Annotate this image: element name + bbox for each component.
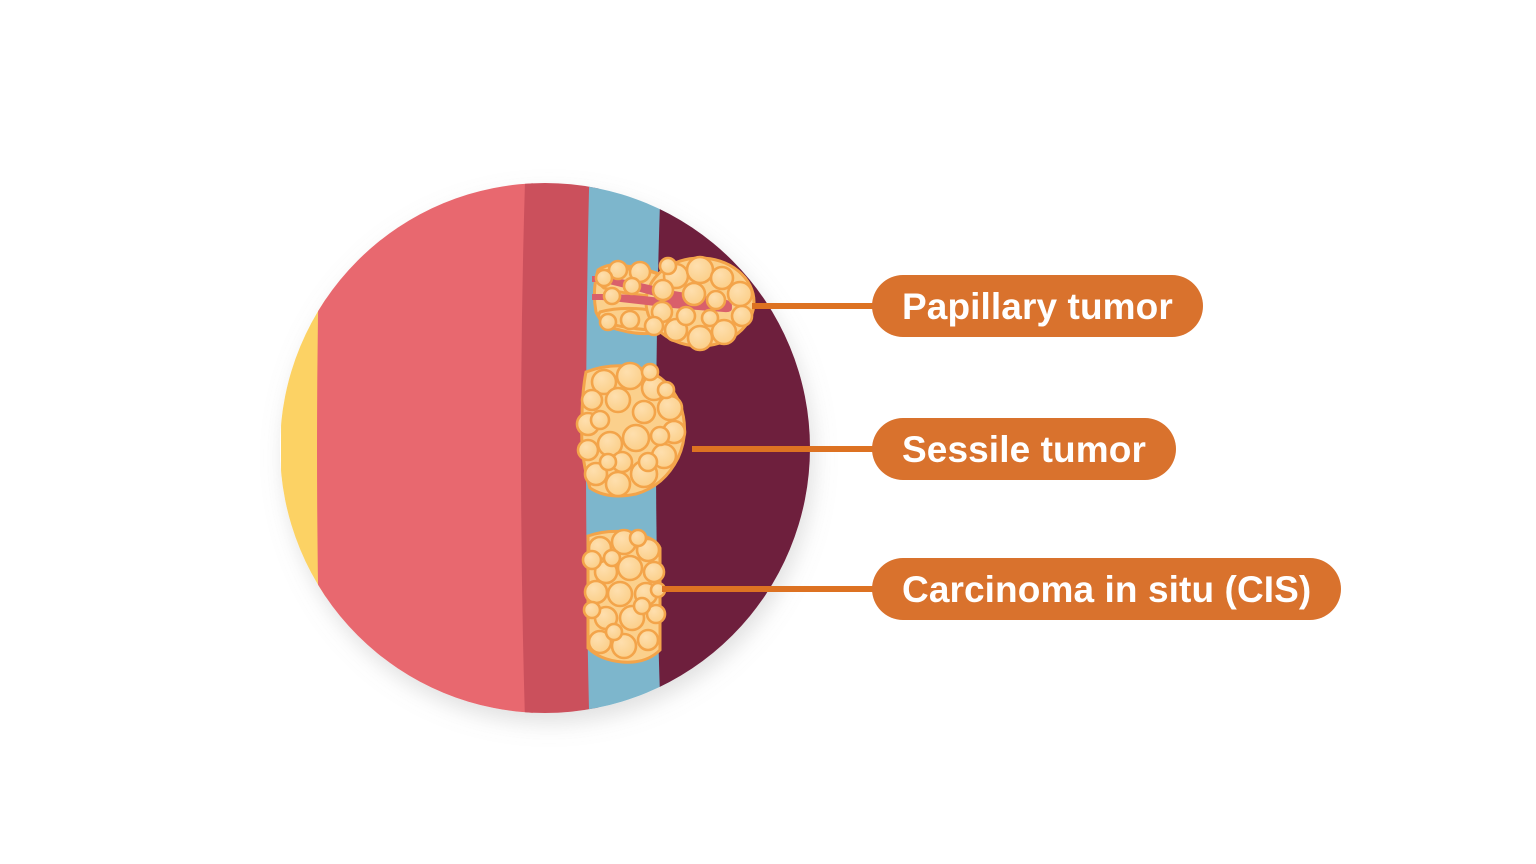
callout-label-papillary-text: Papillary tumor: [902, 288, 1173, 325]
callout-label-cis[interactable]: Carcinoma in situ (CIS): [872, 558, 1341, 620]
cis-lesion: [583, 530, 665, 662]
callout-label-sessile-text: Sessile tumor: [902, 431, 1146, 468]
callout-label-sessile[interactable]: Sessile tumor: [872, 418, 1176, 480]
callout-label-papillary[interactable]: Papillary tumor: [872, 275, 1203, 337]
bladder-cross-section-illustration: [0, 0, 1536, 864]
layer-muscularis-propria: [317, 150, 534, 752]
cis-cells: [583, 530, 665, 658]
diagram-canvas: Papillary tumor Sessile tumor Carcinoma …: [0, 0, 1536, 864]
callout-label-cis-text: Carcinoma in situ (CIS): [902, 571, 1311, 608]
